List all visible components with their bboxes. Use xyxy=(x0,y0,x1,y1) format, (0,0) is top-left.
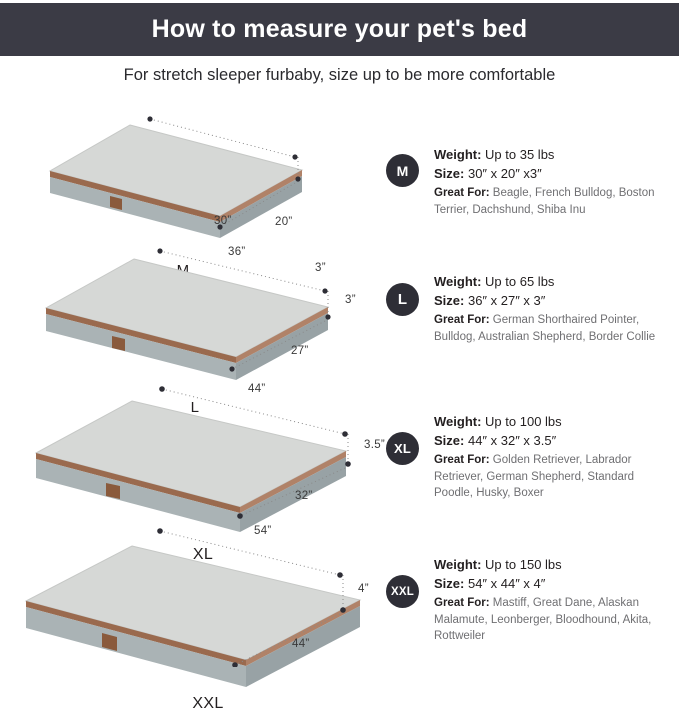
dim-width-xl: 32” xyxy=(295,490,313,502)
great-for-label-m: Great For: xyxy=(434,187,490,199)
size-row-xl: XL 44” 3.5” 32” XL Weight: Up to 100 lbs… xyxy=(0,377,679,523)
great-for-line-l: Great For: German Shorthaired Pointer, B… xyxy=(434,312,669,345)
size-value-m: 30″ x 20″ x3″ xyxy=(468,166,542,181)
weight-line-m: Weight: Up to 35 lbs xyxy=(434,145,669,164)
size-line-m: Size: 30″ x 20″ x3″ xyxy=(434,164,669,183)
great-for-label-l: Great For: xyxy=(434,314,490,326)
weight-label-m: Weight: xyxy=(434,147,481,162)
dimension-guides-xxl xyxy=(0,520,380,667)
great-for-label-xl: Great For: xyxy=(434,454,490,466)
dimension-guides-m xyxy=(0,105,380,237)
page-subtitle: For stretch sleeper furbaby, size up to … xyxy=(0,66,679,85)
dim-width-m: 20” xyxy=(275,216,293,228)
weight-value-xxl: Up to 150 lbs xyxy=(485,557,562,572)
weight-line-xxl: Weight: Up to 150 lbs xyxy=(434,555,669,574)
great-for-line-xxl: Great For: Mastiff, Great Dane, Alaskan … xyxy=(434,595,669,645)
dim-length-xxl: 54” xyxy=(254,525,272,537)
dim-height-xl: 3.5” xyxy=(364,439,385,451)
weight-line-l: Weight: Up to 65 lbs xyxy=(434,272,669,291)
size-badge-m: M xyxy=(386,154,419,187)
size-badge-xl: XL xyxy=(386,432,419,465)
dim-length-m: 30” xyxy=(214,215,232,227)
dim-height-l: 3” xyxy=(345,294,356,306)
great-for-line-m: Great For: Beagle, French Bulldog, Bosto… xyxy=(434,185,669,218)
dim-width-l: 27” xyxy=(291,345,309,357)
size-value-l: 36″ x 27″ x 3″ xyxy=(468,293,545,308)
weight-line-xl: Weight: Up to 100 lbs xyxy=(434,412,669,431)
size-line-xl: Size: 44″ x 32″ x 3.5″ xyxy=(434,431,669,450)
size-badge-xxl: XXL xyxy=(386,575,419,608)
dimension-guides-xl xyxy=(0,377,380,523)
size-value-xl: 44″ x 32″ x 3.5″ xyxy=(468,433,556,448)
dimension-guides-l xyxy=(0,237,380,377)
page-title: How to measure your pet's bed xyxy=(152,15,528,44)
weight-value-m: Up to 35 lbs xyxy=(485,147,554,162)
size-value-xxl: 54″ x 44″ x 4″ xyxy=(468,576,545,591)
size-label-l: Size: xyxy=(434,293,464,308)
size-badge-l: L xyxy=(386,283,419,316)
size-row-xxl: XXL 54” 4” 44” XXL Weight: Up to 150 lbs… xyxy=(0,520,679,667)
size-label-xxl: Size: xyxy=(434,576,464,591)
size-label-m: Size: xyxy=(434,166,464,181)
weight-label-xxl: Weight: xyxy=(434,557,481,572)
dim-width-xxl: 44” xyxy=(292,638,310,650)
weight-value-l: Up to 65 lbs xyxy=(485,274,554,289)
size-row-l: L 36” 3” 27” L Weight: Up to 65 lbs Size… xyxy=(0,237,679,377)
size-row-m: M 30” 3” 20” M Weight: Up to 35 lbs Size… xyxy=(0,105,679,237)
header-bar: How to measure your pet's bed xyxy=(0,3,679,56)
great-for-line-xl: Great For: Golden Retriever, Labrador Re… xyxy=(434,452,669,502)
dim-length-l: 36” xyxy=(228,246,246,258)
dim-height-xxl: 4” xyxy=(358,583,369,595)
bed-size-label-xxl: XXL xyxy=(186,682,230,726)
size-label-xl: Size: xyxy=(434,433,464,448)
weight-value-xl: Up to 100 lbs xyxy=(485,414,562,429)
dim-length-xl: 44” xyxy=(248,383,266,395)
weight-label-xl: Weight: xyxy=(434,414,481,429)
weight-label-l: Weight: xyxy=(434,274,481,289)
great-for-label-xxl: Great For: xyxy=(434,597,490,609)
size-line-l: Size: 36″ x 27″ x 3″ xyxy=(434,291,669,310)
size-line-xxl: Size: 54″ x 44″ x 4″ xyxy=(434,574,669,593)
